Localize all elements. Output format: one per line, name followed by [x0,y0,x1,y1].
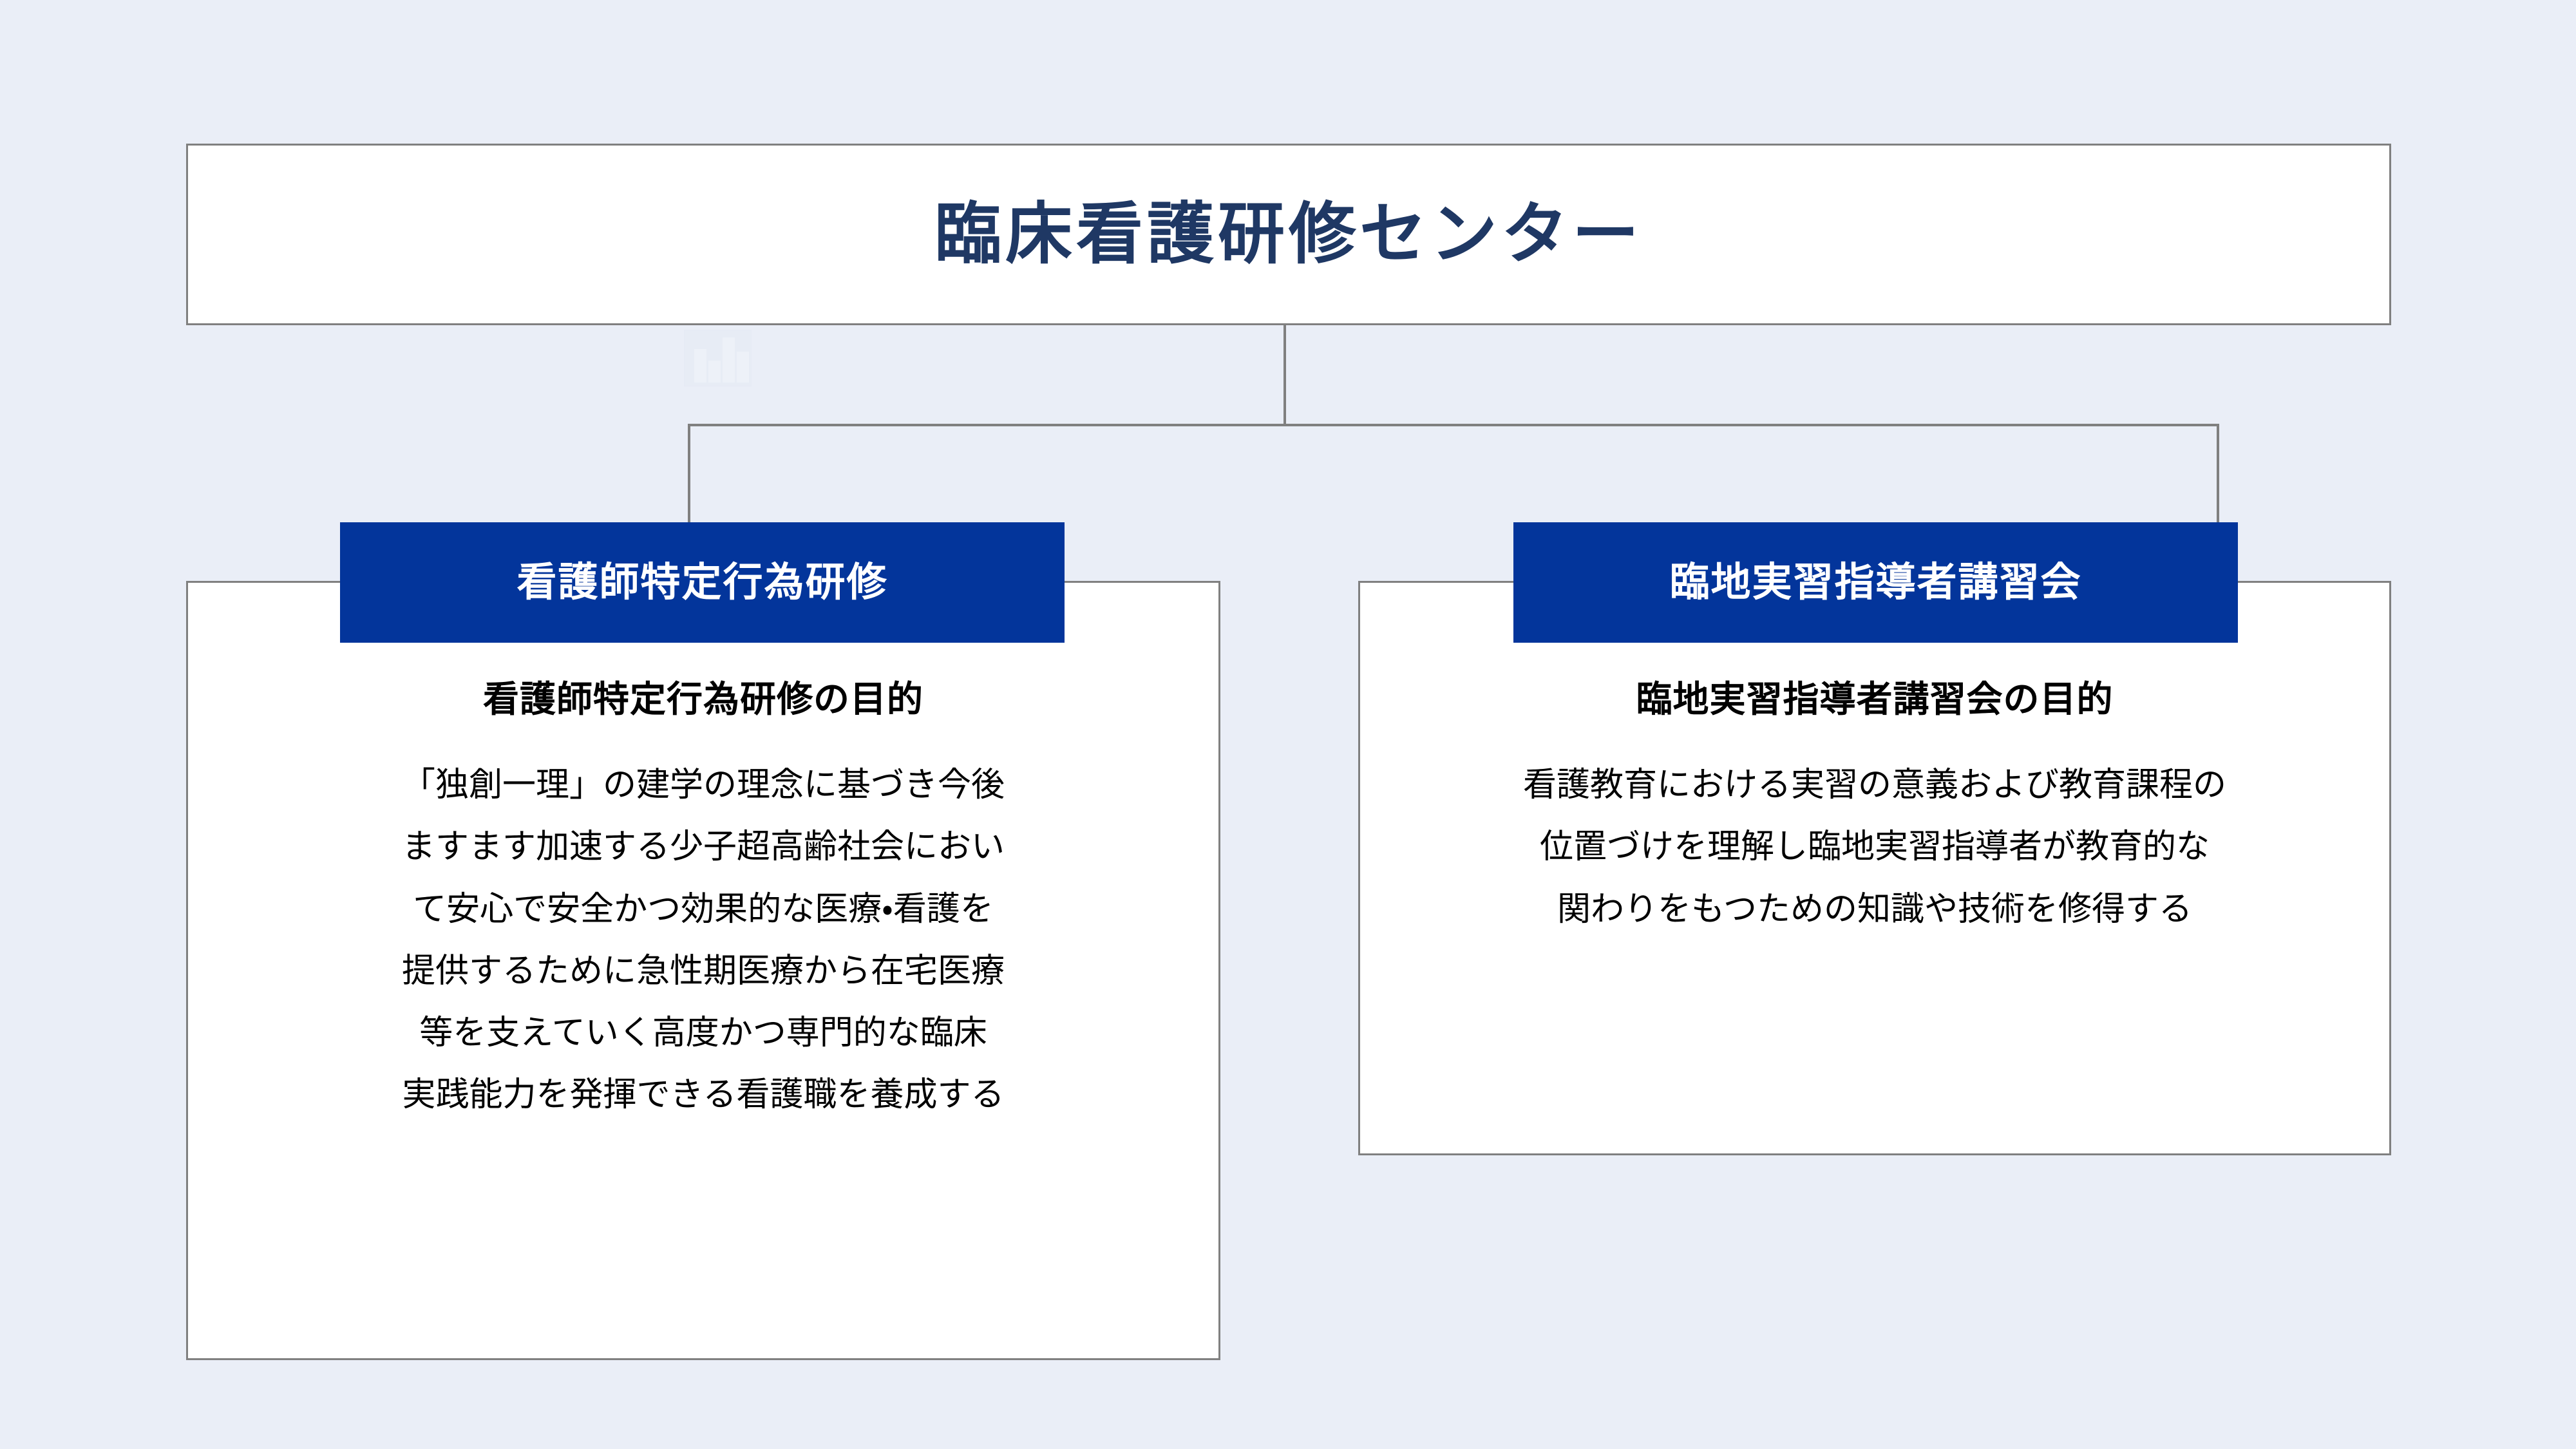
watermark-bar-1 [694,349,706,383]
connector-drop-left-branch [688,424,690,524]
branch-left-header-label: 看護師特定行為研修 [516,563,887,603]
paragraph-line: 看護教育における実習の意義および教育課程の [1358,754,2391,816]
paragraph-line: て安心で安全かつ効果的な医療・看護を [186,878,1220,940]
root-node-title: 臨床看護研修センター [934,198,1643,271]
paragraph-line: ますます加速する少子超高齢社会におい [186,816,1220,878]
connector-stem-vertical [1283,325,1286,426]
paragraph-line: 関わりをもつための知識や技術を修得する [1358,878,2391,940]
paragraph-line: 「独創一理」の建学の理念に基づき今後 [186,754,1220,816]
connector-horizontal-bus [688,424,2219,426]
watermark-bar-3 [723,337,735,383]
paragraph-line: 提供するために急性期医療から在宅医療 [186,940,1220,1002]
watermark-bar-4 [737,352,749,383]
paragraph-line: 実践能力を発揮できる看護職を養成する [186,1064,1220,1126]
branch-right-header[interactable]: 臨地実習指導者講習会 [1513,522,2238,643]
root-node-box[interactable]: 臨床看護研修センター [186,144,2391,325]
branch-left-header[interactable]: 看護師特定行為研修 [340,522,1065,643]
branch-right-subtitle: 臨地実習指導者講習会の目的 [1358,677,2391,721]
branch-right-header-label: 臨地実習指導者講習会 [1669,563,2081,603]
paragraph-line: 位置づけを理解し臨地実習指導者が教育的な [1358,816,2391,878]
connector-drop-right-branch [2217,424,2219,524]
branch-left-paragraph: 「独創一理」の建学の理念に基づき今後 ますます加速する少子超高齢社会におい て安… [186,754,1220,1126]
branch-right-paragraph: 看護教育における実習の意義および教育課程の 位置づけを理解し臨地実習指導者が教育… [1358,754,2391,940]
org-chart-canvas: 臨床看護研修センター 看護師特定行為研修 看護師特定行為研修の目的 「独創一理」… [0,0,2576,1449]
bar-chart-watermark-icon [684,330,752,386]
watermark-bar-2 [708,361,721,383]
paragraph-line: 等を支えていく高度かつ専門的な臨床 [186,1002,1220,1064]
branch-right-content: 臨地実習指導者講習会の目的 看護教育における実習の意義および教育課程の 位置づけ… [1358,677,2391,940]
branch-left-subtitle: 看護師特定行為研修の目的 [186,677,1220,721]
branch-left-content: 看護師特定行為研修の目的 「独創一理」の建学の理念に基づき今後 ますます加速する… [186,677,1220,1126]
